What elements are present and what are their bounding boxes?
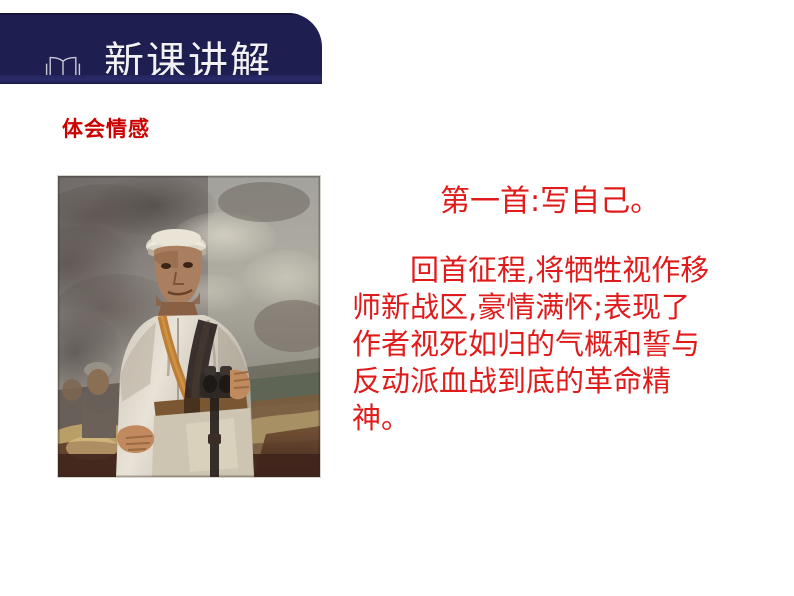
header-banner: 新课讲解 [0,13,322,84]
body-paragraph-text: 回首征程,将牺牲视作移师新战区,豪情满怀;表现了作者视死如归的气概和誓与反动派血… [352,252,718,437]
lead-line-text: 第一首:写自己。 [440,182,660,222]
banner-top-edge [0,13,322,15]
section-heading: 体会情感 [62,116,150,142]
illustration-painting [58,176,320,477]
banner-bottom-sheen [0,75,322,84]
